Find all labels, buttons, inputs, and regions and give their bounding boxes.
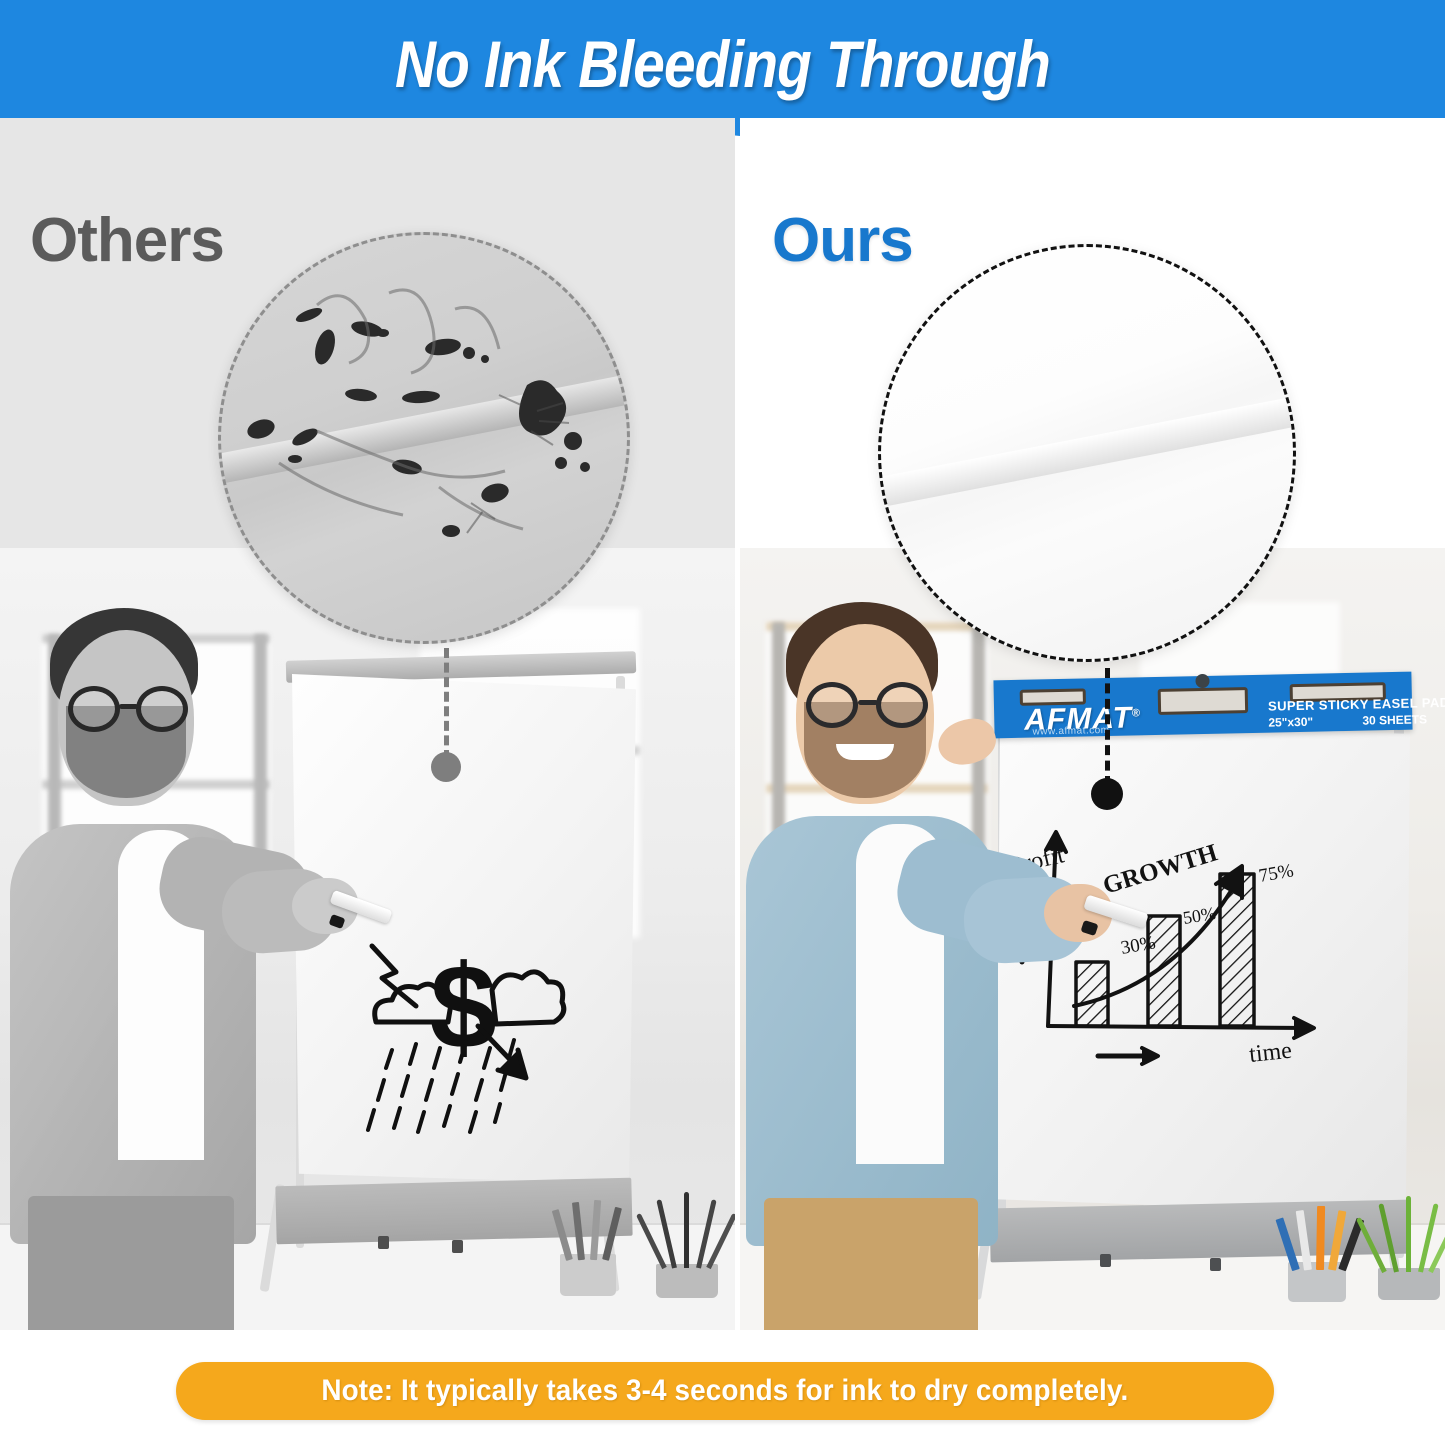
label-others: Others bbox=[30, 205, 224, 276]
plant-leaf bbox=[684, 1192, 689, 1268]
connector-line bbox=[444, 648, 449, 760]
glasses-right-lens bbox=[136, 686, 188, 732]
photo-ours: AFMAT® www.afmat.com SUPER STICKY EASEL … bbox=[740, 548, 1445, 1330]
connector-dot bbox=[431, 752, 461, 782]
label-ours: Ours bbox=[772, 205, 913, 276]
glasses-left-lens bbox=[806, 682, 858, 728]
person-smile bbox=[836, 744, 894, 760]
ink-bleed-stains bbox=[221, 235, 630, 644]
glasses-bridge bbox=[858, 700, 878, 705]
connector-dot bbox=[1091, 778, 1123, 810]
pad-spec-sheets: 30 SHEETS bbox=[1362, 712, 1427, 727]
glasses-right-lens bbox=[876, 682, 928, 728]
sketch-loss-diagram: $ bbox=[330, 918, 630, 1158]
chart-data-label-3: 75% bbox=[1257, 860, 1295, 887]
chart-xlabel: time bbox=[1248, 1038, 1293, 1068]
page-title: No Ink Bleeding Through bbox=[101, 26, 1344, 102]
paper-fold-edge bbox=[878, 393, 1296, 510]
plant-pot bbox=[656, 1264, 718, 1298]
tray-clip bbox=[452, 1240, 463, 1253]
plant-leaf bbox=[1406, 1196, 1411, 1272]
product-comparison-image: No Ink Bleeding Through bbox=[0, 0, 1445, 1430]
note-text: Note: It typically takes 3-4 seconds for… bbox=[322, 1374, 1129, 1408]
person-pants bbox=[28, 1196, 234, 1330]
afmat-brand-bar: AFMAT® www.afmat.com SUPER STICKY EASEL … bbox=[993, 672, 1412, 739]
note-banner: Note: It typically takes 3-4 seconds for… bbox=[176, 1362, 1274, 1420]
pencil bbox=[1316, 1206, 1325, 1270]
tray-clip bbox=[1210, 1258, 1221, 1271]
registered-mark: ® bbox=[1132, 707, 1141, 719]
chart-data-label-2: 50% bbox=[1181, 903, 1217, 928]
person-pants bbox=[764, 1198, 978, 1330]
zoom-circle-ours bbox=[878, 244, 1296, 662]
tray-clip bbox=[378, 1236, 389, 1249]
chart-title: GROWTH bbox=[1100, 839, 1221, 900]
photo-others: $ bbox=[0, 548, 735, 1330]
afmat-url: www.afmat.com bbox=[1032, 725, 1109, 738]
pad-spec-size: 25"x30" bbox=[1268, 715, 1313, 730]
glasses-bridge bbox=[119, 704, 138, 709]
connector-line bbox=[1105, 668, 1110, 786]
glasses-left-lens bbox=[68, 686, 120, 732]
zoom-circle-others bbox=[218, 232, 630, 644]
plant-pot bbox=[1378, 1268, 1440, 1300]
pad-punch-slot bbox=[1158, 687, 1249, 715]
pad-hanger-hole bbox=[1195, 674, 1209, 688]
tray-clip bbox=[1100, 1254, 1111, 1267]
